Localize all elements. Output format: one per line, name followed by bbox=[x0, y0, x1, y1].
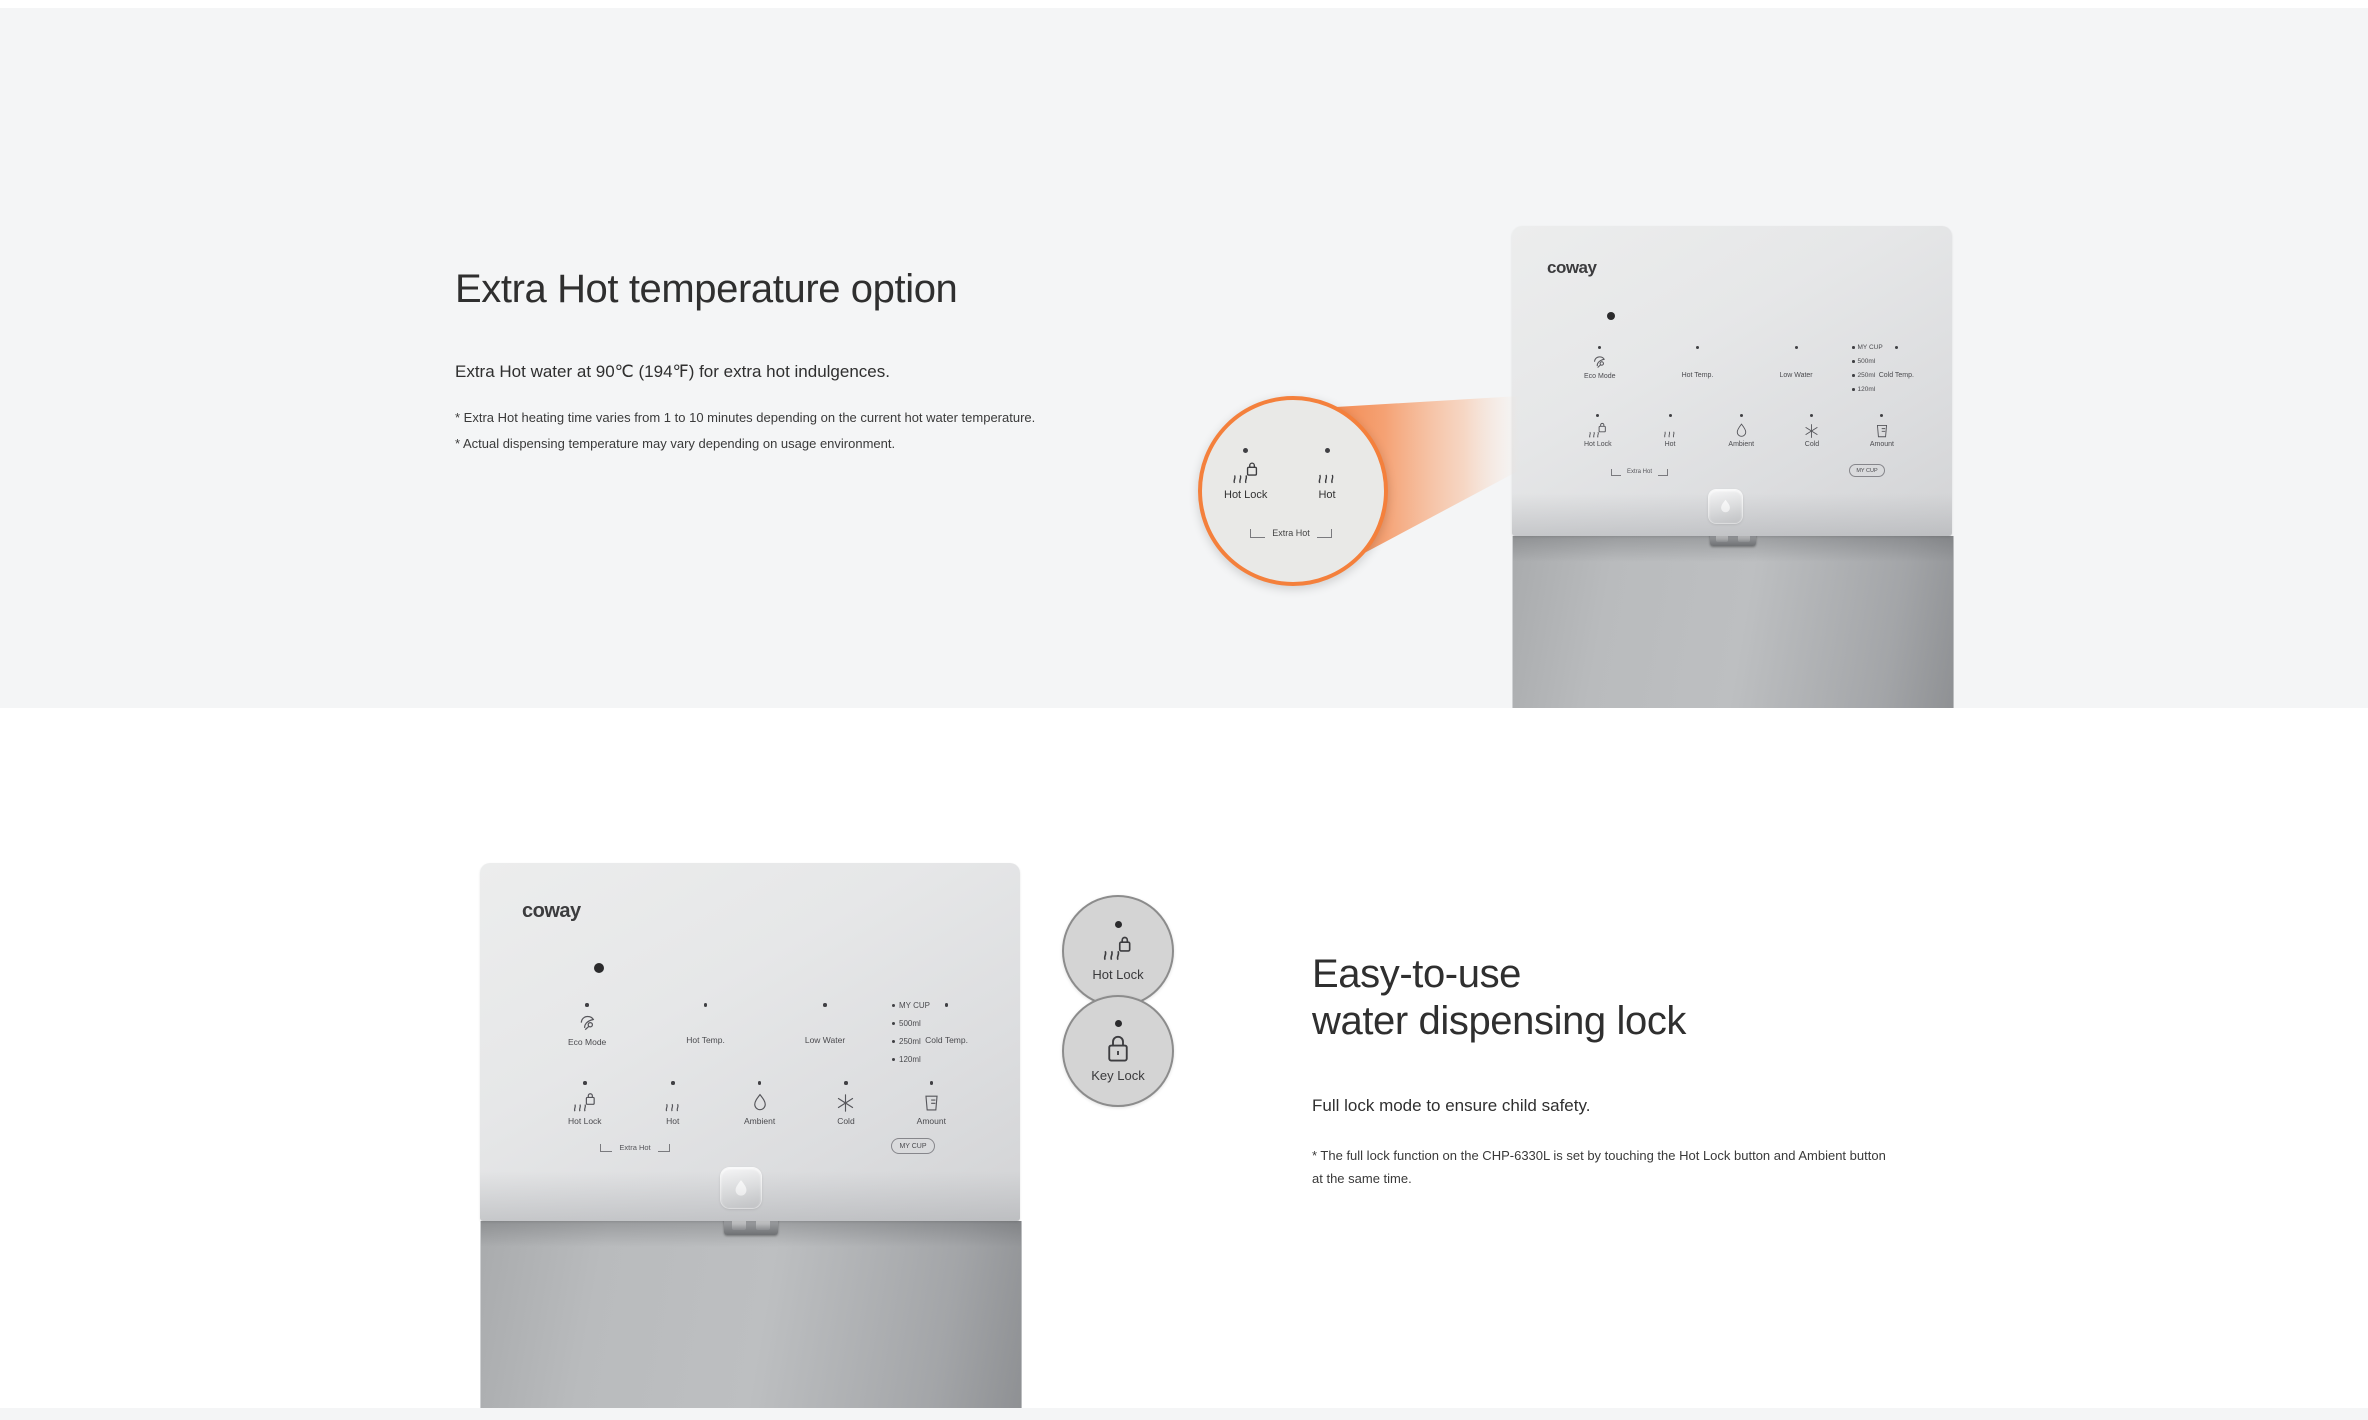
eco-mode-icon bbox=[1591, 353, 1608, 371]
badge-hot-lock[interactable]: Hot Lock bbox=[1062, 895, 1174, 1007]
amount-indicator-list-top: MY CUP 500ml 250ml 120ml bbox=[1852, 344, 1883, 393]
amount-indicator-label: 250ml bbox=[899, 1037, 921, 1046]
coway-logo-top: coway bbox=[1547, 258, 1596, 278]
button-ambient[interactable]: Ambient bbox=[1728, 414, 1754, 448]
amount-indicator-label: 250ml bbox=[1858, 372, 1876, 379]
button-label: Amount bbox=[1870, 441, 1894, 448]
amount-indicator-label: MY CUP bbox=[899, 1001, 930, 1010]
indicator-dot bbox=[1115, 1020, 1122, 1027]
dispense-button-bottom[interactable] bbox=[721, 1168, 761, 1208]
button-label: Cold bbox=[1805, 441, 1819, 448]
indicator-dot bbox=[1696, 346, 1699, 349]
extra-hot-subhead: Extra Hot water at 90℃ (194℉) for extra … bbox=[455, 359, 1075, 385]
snowflake-icon bbox=[1804, 421, 1819, 439]
my-cup-pill-bottom[interactable]: MY CUP bbox=[891, 1138, 935, 1154]
snowflake-icon bbox=[836, 1090, 855, 1113]
indicator-dot bbox=[671, 1081, 675, 1085]
amount-indicator-item: MY CUP bbox=[1852, 344, 1883, 351]
indicator-cold-temp[interactable]: Cold Temp. bbox=[1879, 346, 1914, 379]
indicator-label: Eco Mode bbox=[568, 1037, 606, 1047]
button-hot[interactable]: Hot bbox=[663, 1081, 683, 1126]
section-extra-hot: Extra Hot temperature option Extra Hot w… bbox=[0, 8, 2368, 708]
indicator-dot bbox=[892, 1058, 895, 1061]
coway-logo-bottom: coway bbox=[522, 900, 581, 923]
indicator-dot bbox=[892, 1022, 895, 1025]
water-drop-icon bbox=[752, 1090, 768, 1113]
indicator-eco-mode[interactable]: Eco Mode bbox=[568, 1003, 606, 1047]
indicator-dot bbox=[758, 1081, 762, 1085]
amount-indicator-label: 120ml bbox=[899, 1055, 921, 1064]
bracket-label: Extra Hot bbox=[1272, 528, 1310, 538]
callout-extra-hot-bracket: Extra Hot bbox=[1226, 526, 1356, 540]
button-label: Hot Lock bbox=[568, 1116, 602, 1126]
amount-indicator-list-bottom: MY CUP 500ml 250ml 120ml bbox=[892, 1001, 930, 1064]
amount-indicator-item: MY CUP bbox=[892, 1001, 930, 1010]
padlock-icon bbox=[1104, 1033, 1132, 1063]
indicator-eco-mode[interactable]: Eco Mode bbox=[1584, 346, 1616, 380]
button-ambient[interactable]: Ambient bbox=[744, 1081, 775, 1126]
callout-button-hot-lock[interactable]: Hot Lock bbox=[1224, 448, 1267, 501]
cup-measure-icon bbox=[1875, 421, 1889, 439]
amount-indicator-label: 120ml bbox=[1858, 386, 1876, 393]
indicator-dot bbox=[1795, 346, 1798, 349]
eco-mode-icon bbox=[577, 1012, 598, 1034]
extra-hot-callout: Hot Lock Hot bbox=[1190, 388, 1730, 608]
indicator-dot bbox=[945, 1003, 949, 1007]
extra-hot-note-2: * Actual dispensing temperature may vary… bbox=[455, 433, 1055, 456]
dispensing-lock-headline: Easy-to-use water dispensing lock bbox=[1312, 951, 1952, 1045]
indicator-dot bbox=[1740, 414, 1743, 417]
indicator-low-water[interactable]: Low Water bbox=[1779, 346, 1812, 379]
steam-lock-icon bbox=[1100, 934, 1136, 962]
steam-lock-icon bbox=[1230, 459, 1262, 485]
amount-indicator-item: 250ml bbox=[892, 1037, 921, 1046]
indicator-dot bbox=[892, 1004, 895, 1007]
amount-indicator-item: 120ml bbox=[892, 1055, 921, 1064]
indicator-dot bbox=[1852, 360, 1855, 363]
water-drop-icon bbox=[733, 1178, 749, 1199]
indicator-dot bbox=[704, 1003, 708, 1007]
power-led-bottom bbox=[594, 963, 604, 973]
indicator-dot bbox=[583, 1081, 587, 1085]
bracket-tick-right bbox=[658, 1144, 670, 1152]
water-purifier-unit-bottom: coway Eco Mode bbox=[480, 863, 1020, 1408]
steam-lock-icon bbox=[571, 1090, 599, 1113]
water-drop-icon bbox=[1735, 421, 1748, 439]
extra-hot-note-1: * Extra Hot heating time varies from 1 t… bbox=[455, 407, 1055, 430]
indicator-label: Hot Temp. bbox=[1682, 372, 1714, 379]
bracket-tick-left bbox=[1250, 529, 1265, 538]
button-label: Hot Lock bbox=[1224, 489, 1267, 501]
badge-label: Key Lock bbox=[1091, 1068, 1144, 1083]
indicator-label: Low Water bbox=[1779, 372, 1812, 379]
button-hot-lock[interactable]: Hot Lock bbox=[568, 1081, 602, 1126]
button-label: Hot bbox=[666, 1116, 679, 1126]
indicator-dot bbox=[1852, 346, 1855, 349]
button-cold[interactable]: Cold bbox=[836, 1081, 855, 1126]
button-cold[interactable]: Cold bbox=[1804, 414, 1819, 448]
button-label: Amount bbox=[917, 1116, 946, 1126]
indicator-hot-temp[interactable]: Hot Temp. bbox=[1682, 346, 1714, 379]
indicator-dot bbox=[1325, 448, 1330, 453]
bracket-tick-right bbox=[1317, 529, 1332, 538]
indicator-label: Hot Temp. bbox=[686, 1035, 725, 1045]
extra-hot-copy-block: Extra Hot temperature option Extra Hot w… bbox=[455, 266, 1075, 456]
dispensing-lock-subhead: Full lock mode to ensure child safety. bbox=[1312, 1093, 1952, 1119]
button-label: Hot bbox=[1318, 489, 1335, 501]
amount-indicator-item: 120ml bbox=[1852, 386, 1875, 393]
section-dispensing-lock: coway Eco Mode bbox=[0, 708, 2368, 1408]
button-label: Ambient bbox=[744, 1116, 775, 1126]
indicator-dot bbox=[1895, 346, 1898, 349]
page-root: Extra Hot temperature option Extra Hot w… bbox=[0, 0, 2368, 1420]
cup-measure-icon bbox=[923, 1090, 940, 1113]
indicator-label: Cold Temp. bbox=[925, 1035, 968, 1045]
indicator-dot bbox=[1852, 374, 1855, 377]
indicator-dot bbox=[930, 1081, 934, 1085]
amount-indicator-item: 500ml bbox=[1852, 358, 1875, 365]
amount-indicator-item: 500ml bbox=[892, 1019, 921, 1028]
badge-key-lock[interactable]: Key Lock bbox=[1062, 995, 1174, 1107]
indicator-dot bbox=[1810, 414, 1813, 417]
bracket-tick-left bbox=[600, 1144, 612, 1152]
my-cup-pill-top[interactable]: MY CUP bbox=[1849, 464, 1885, 477]
amount-indicator-label: 500ml bbox=[899, 1019, 921, 1028]
indicator-dot bbox=[1598, 346, 1601, 349]
indicator-cold-temp[interactable]: Cold Temp. bbox=[925, 1003, 968, 1045]
button-amount[interactable]: Amount bbox=[1870, 414, 1894, 448]
button-label: Cold bbox=[837, 1116, 854, 1126]
steam-icon bbox=[1315, 459, 1339, 485]
control-panel-bottom: coway Eco Mode bbox=[480, 863, 1020, 1221]
indicator-dot bbox=[844, 1081, 848, 1085]
button-label: Ambient bbox=[1728, 441, 1754, 448]
indicator-hot-temp[interactable]: Hot Temp. bbox=[686, 1003, 725, 1045]
indicator-label: Cold Temp. bbox=[1879, 372, 1914, 379]
amount-indicator-label: MY CUP bbox=[1858, 344, 1883, 351]
extra-hot-bracket-bottom: Extra Hot bbox=[565, 1141, 705, 1154]
footer-strip bbox=[0, 1408, 2368, 1420]
power-led-top bbox=[1607, 312, 1615, 320]
indicator-dot bbox=[585, 1003, 589, 1007]
indicator-dot bbox=[1880, 414, 1883, 417]
amount-indicator-label: 500ml bbox=[1858, 358, 1876, 365]
steam-icon bbox=[663, 1090, 683, 1113]
bracket-label: Extra Hot bbox=[619, 1143, 650, 1152]
indicator-dot bbox=[1115, 921, 1122, 928]
badge-label: Hot Lock bbox=[1092, 967, 1143, 982]
indicator-label: Eco Mode bbox=[1584, 373, 1616, 380]
magnifier-circle: Hot Lock Hot bbox=[1198, 396, 1388, 586]
purifier-body-bottom bbox=[480, 1221, 1022, 1408]
indicator-dot bbox=[823, 1003, 827, 1007]
extra-hot-headline: Extra Hot temperature option bbox=[455, 266, 1075, 313]
indicator-label: Low Water bbox=[805, 1035, 845, 1045]
indicator-dot bbox=[892, 1040, 895, 1043]
dispensing-lock-copy-block: Easy-to-use water dispensing lock Full l… bbox=[1312, 951, 1952, 1190]
indicator-dot bbox=[1852, 388, 1855, 391]
dispensing-lock-note-1: * The full lock function on the CHP-6330… bbox=[1312, 1145, 1892, 1191]
button-amount[interactable]: Amount bbox=[917, 1081, 946, 1126]
indicator-dot bbox=[1243, 448, 1248, 453]
callout-button-hot[interactable]: Hot bbox=[1315, 448, 1339, 501]
button-row-bottom: Hot Lock Hot bbox=[568, 1081, 946, 1126]
indicator-low-water[interactable]: Low Water bbox=[805, 1003, 845, 1045]
amount-indicator-item: 250ml bbox=[1852, 372, 1875, 379]
